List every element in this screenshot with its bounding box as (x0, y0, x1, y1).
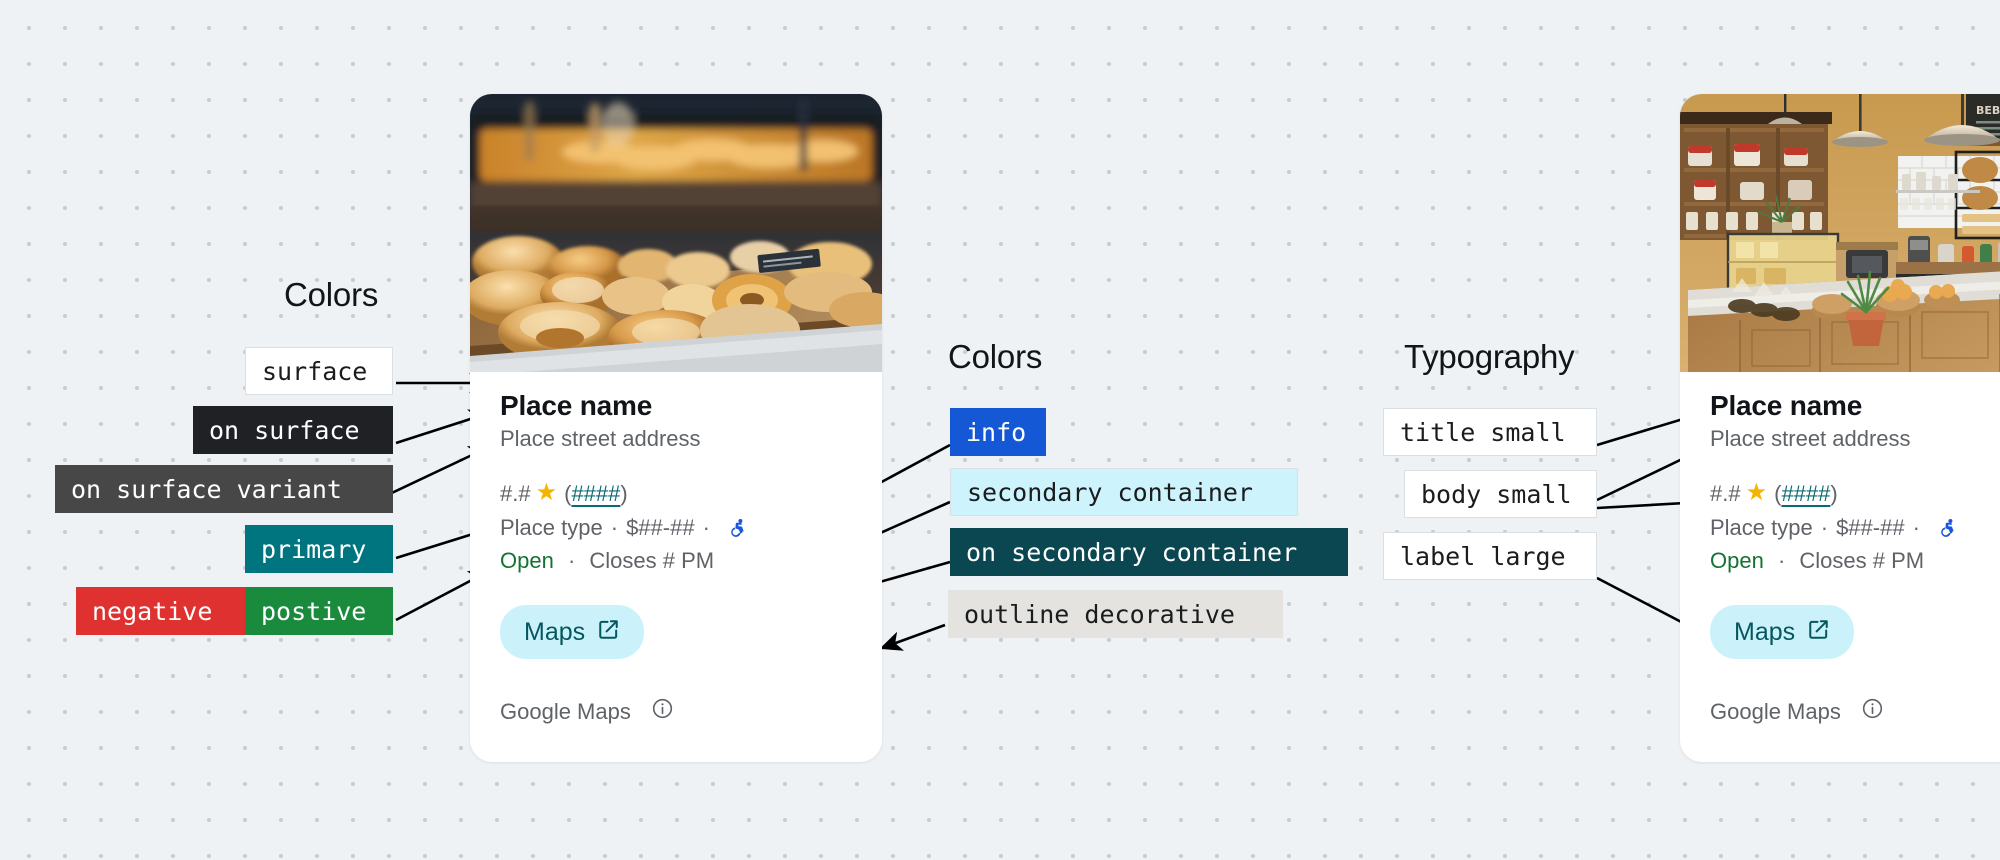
annotated-design-canvas: Colors Colors Typography surface on surf… (0, 0, 2000, 860)
card-photo-bakery (470, 94, 882, 372)
type-chip-title-small[interactable]: title small (1383, 408, 1597, 456)
color-chip-on-surface[interactable]: on surface (193, 406, 393, 454)
color-chip-label: outline decorative (964, 602, 1235, 627)
open-in-new-icon (597, 618, 620, 646)
dot-separator: · (1821, 511, 1828, 544)
card-body-bakery: Place name Place street address #.# ★ (#… (470, 390, 882, 726)
open-status: Open (500, 548, 554, 573)
star-icon: ★ (1746, 475, 1768, 511)
group-heading-colors-middle: Colors (948, 338, 1042, 376)
dot-separator-2: · (1913, 511, 1920, 544)
color-chip-label: info (966, 420, 1026, 445)
maps-button[interactable]: Maps (500, 605, 644, 659)
maps-button[interactable]: Maps (1710, 605, 1854, 659)
place-address: Place street address (1710, 422, 2000, 455)
place-address: Place street address (500, 422, 852, 455)
rating-row: #.# ★ (####) (1710, 475, 2000, 511)
review-paren-close: ) (1830, 477, 1837, 510)
rating-row: #.# ★ (####) (500, 475, 852, 511)
review-paren-open: ( (1774, 477, 1781, 510)
color-chip-info[interactable]: info (950, 408, 1046, 456)
place-card-bakery[interactable]: Place name Place street address #.# ★ (#… (470, 94, 882, 762)
open-in-new-icon (1807, 618, 1830, 646)
color-chip-label: primary (261, 537, 366, 562)
rating-value: #.# (500, 477, 531, 510)
attribution-label: Google Maps (1710, 699, 1841, 725)
type-chip-label: body small (1421, 482, 1572, 507)
color-chip-secondary-container[interactable]: secondary container (950, 468, 1298, 516)
cafe-photo-illustration: BEBIDAS CA (1680, 94, 2000, 372)
group-heading-colors-left: Colors (284, 276, 378, 314)
color-chip-outline-decorative[interactable]: outline decorative (948, 590, 1283, 638)
place-name: Place name (500, 390, 852, 422)
color-chip-surface[interactable]: surface (245, 347, 393, 395)
place-type: Place type (500, 511, 603, 544)
closing-text: Closes # PM (589, 548, 714, 573)
place-type-row: Place type · $##-## · (1710, 511, 2000, 544)
color-chip-label: secondary container (967, 480, 1253, 505)
color-chip-positive[interactable]: postive (245, 587, 393, 635)
group-heading-typography: Typography (1404, 338, 1574, 376)
color-chip-label: postive (261, 599, 366, 624)
type-chip-body-small[interactable]: body small (1404, 470, 1597, 518)
color-chip-negative[interactable]: negative (76, 587, 245, 635)
dot-separator-2: · (703, 511, 710, 544)
color-chip-label: on surface (209, 418, 360, 443)
color-chip-label: on secondary container (966, 540, 1297, 565)
color-chip-label: surface (262, 359, 367, 384)
place-name: Place name (1710, 390, 2000, 422)
review-paren-open: ( (564, 477, 571, 510)
open-status: Open (1710, 548, 1764, 573)
place-type: Place type (1710, 511, 1813, 544)
place-card-cafe[interactable]: BEBIDAS CA (1680, 94, 2000, 762)
attribution-row: Google Maps (500, 697, 852, 726)
card-body-cafe: Place name Place street address #.# ★ (#… (1680, 390, 2000, 726)
rating-value: #.# (1710, 477, 1741, 510)
info-circle-icon[interactable] (1861, 697, 1884, 726)
dot-separator-3: · (1778, 548, 1785, 573)
hours-row: Open · Closes # PM (500, 544, 852, 577)
maps-button-label: Maps (524, 620, 585, 645)
type-chip-label-large[interactable]: label large (1383, 532, 1597, 580)
color-chip-primary[interactable]: primary (245, 525, 393, 573)
price-range: $##-## (1836, 511, 1905, 544)
dot-separator-3: · (568, 548, 575, 573)
type-chip-label: label large (1400, 544, 1566, 569)
attribution-label: Google Maps (500, 699, 631, 725)
color-chip-on-secondary-container[interactable]: on secondary container (950, 528, 1348, 576)
review-paren-close: ) (620, 477, 627, 510)
bakery-photo-illustration (470, 94, 882, 372)
place-type-row: Place type · $##-## · (500, 511, 852, 544)
svg-text:BEBIDAS CA: BEBIDAS CA (1976, 104, 2000, 117)
type-chip-label: title small (1400, 420, 1566, 445)
review-count-link[interactable]: #### (1781, 477, 1830, 510)
price-range: $##-## (626, 511, 695, 544)
star-icon: ★ (536, 475, 558, 511)
maps-button-label: Maps (1734, 620, 1795, 645)
info-circle-icon[interactable] (651, 697, 674, 726)
hours-row: Open · Closes # PM (1710, 544, 2000, 577)
color-chip-label: on surface variant (71, 477, 342, 502)
attribution-row: Google Maps (1710, 697, 2000, 726)
wheelchair-accessible-icon (1940, 517, 1960, 539)
closing-text: Closes # PM (1799, 548, 1924, 573)
card-photo-cafe: BEBIDAS CA (1680, 94, 2000, 372)
color-chip-on-surface-variant[interactable]: on surface variant (55, 465, 393, 513)
color-chip-label: negative (92, 599, 212, 624)
wheelchair-accessible-icon (730, 517, 750, 539)
review-count-link[interactable]: #### (571, 477, 620, 510)
dot-separator: · (611, 511, 618, 544)
